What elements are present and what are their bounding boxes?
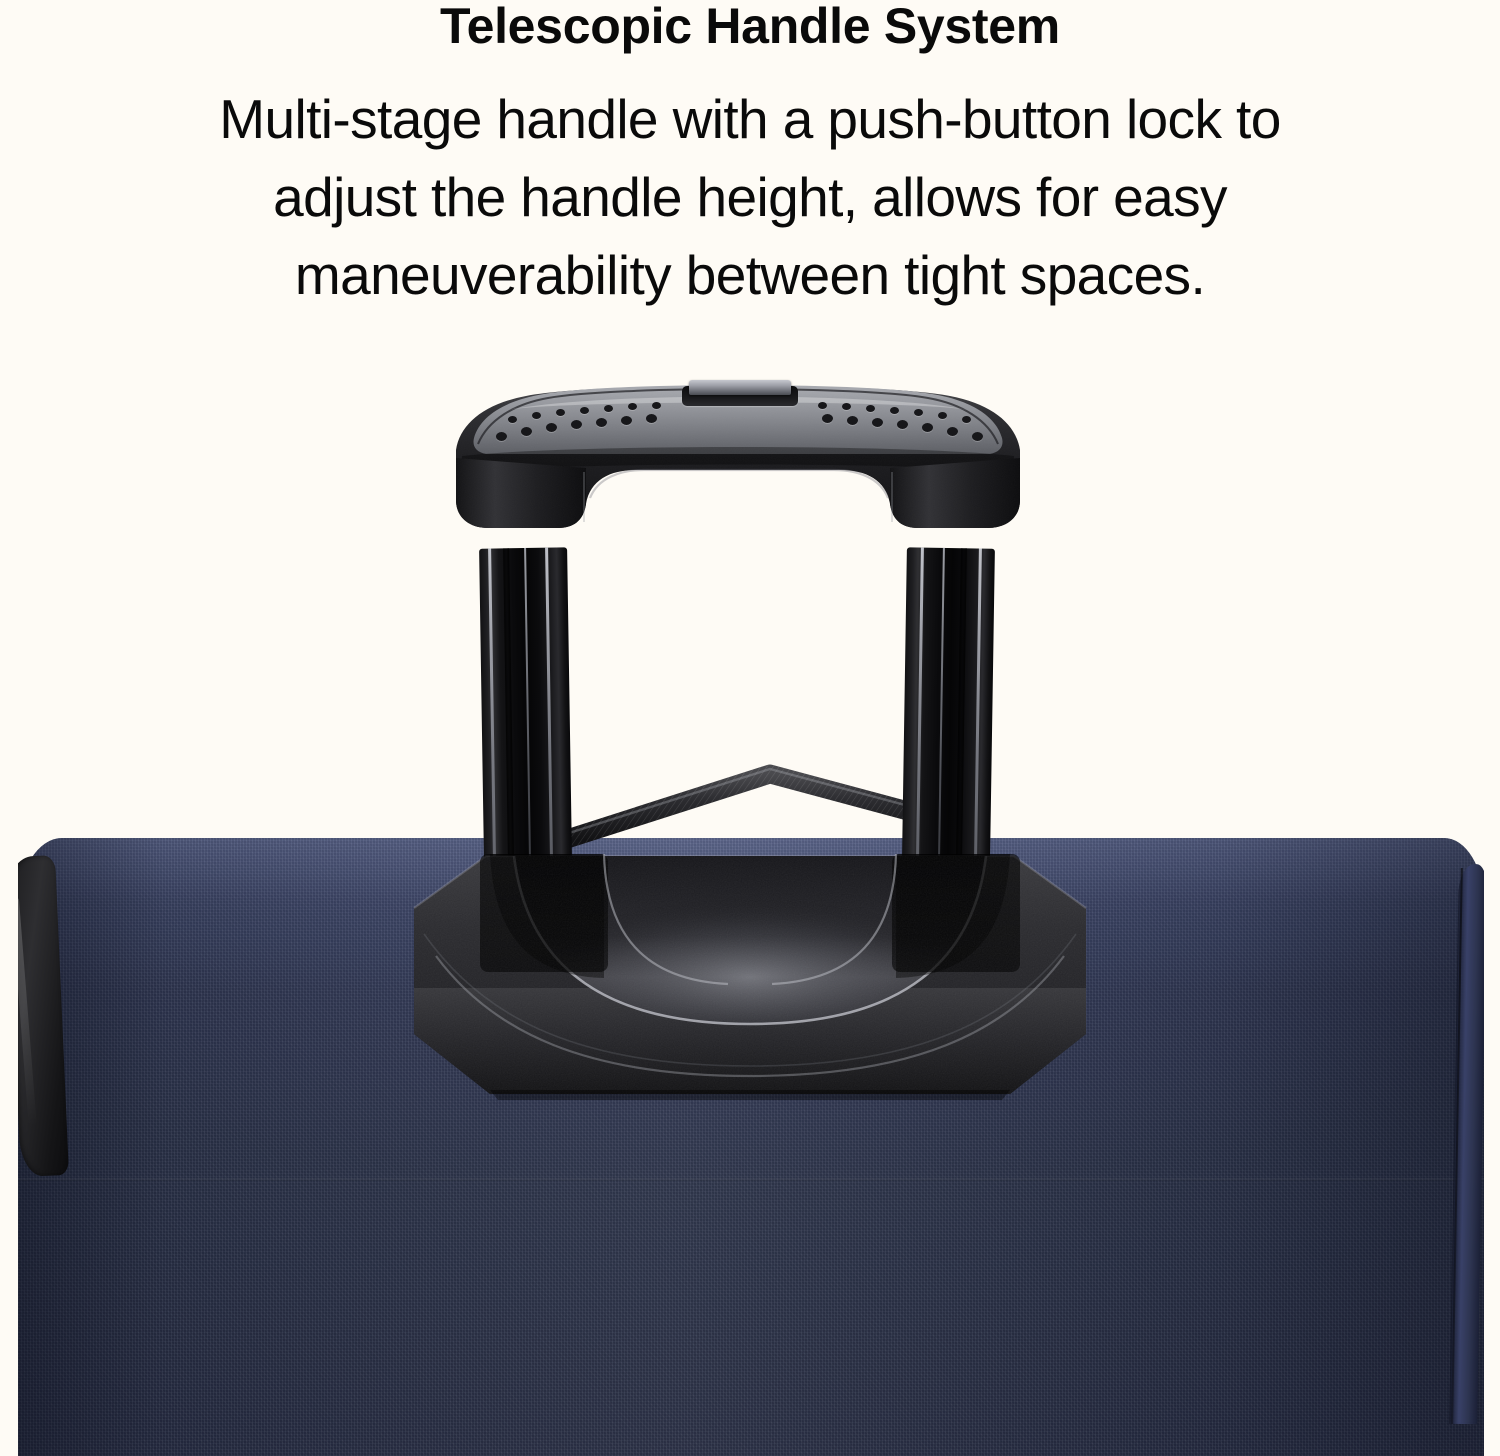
grip-perforation-dot	[938, 412, 947, 419]
grip-perforation-dot	[521, 427, 532, 436]
push-button-lock[interactable]	[682, 380, 798, 406]
grip-perforation-dot	[947, 427, 958, 436]
grip-perforation-dot	[897, 420, 908, 429]
grip-perforation-dot	[596, 418, 607, 427]
subtitle-line-3: maneuverability between tight spaces.	[55, 236, 1445, 314]
grip-perforation-dot	[872, 418, 883, 427]
grip-perforation-dot	[822, 414, 833, 423]
grip-perforation-dot	[962, 416, 971, 423]
grip-perforation-dot	[556, 409, 565, 416]
grip-perforation-dot	[842, 403, 851, 410]
grip-perforation-dot	[571, 420, 582, 429]
telescopic-handle-grip[interactable]	[448, 372, 1028, 587]
grip-perforation-dot	[847, 416, 858, 425]
grip-perforation-dot	[914, 409, 923, 416]
push-button-tab[interactable]	[689, 380, 791, 395]
grip-perforation-dot	[866, 405, 875, 412]
grip-perforation-dot	[546, 423, 557, 432]
subtitle-line-1: Multi-stage handle with a push-button lo…	[55, 80, 1445, 158]
grip-perforation-dot	[652, 402, 661, 409]
handle-base-housing	[398, 838, 1102, 1106]
corner-guard-highlight	[18, 897, 37, 1127]
grip-perforation-dot	[922, 423, 933, 432]
grip-perforation-dot	[508, 416, 517, 423]
grip-perforation-dot	[580, 407, 589, 414]
page-title: Telescopic Handle System	[0, 0, 1500, 55]
grip-perforation-dot	[818, 402, 827, 409]
subtitle-line-2: adjust the handle height, allows for eas…	[55, 158, 1445, 236]
subtitle: Multi-stage handle with a push-button lo…	[55, 80, 1445, 314]
grip-perforation-dot	[628, 403, 637, 410]
grip-perforation-dot	[890, 407, 899, 414]
text-block: Telescopic Handle System Multi-stage han…	[0, 0, 1500, 300]
grip-perforation-dot	[621, 416, 632, 425]
grip-perforation-dot	[972, 432, 983, 441]
grip-perforation-dot	[496, 432, 507, 441]
grip-perforation-dot	[646, 414, 657, 423]
product-feature-card: Telescopic Handle System Multi-stage han…	[0, 0, 1500, 1456]
grip-perforation-dot	[532, 412, 541, 419]
grip-perforation-dot	[604, 405, 613, 412]
